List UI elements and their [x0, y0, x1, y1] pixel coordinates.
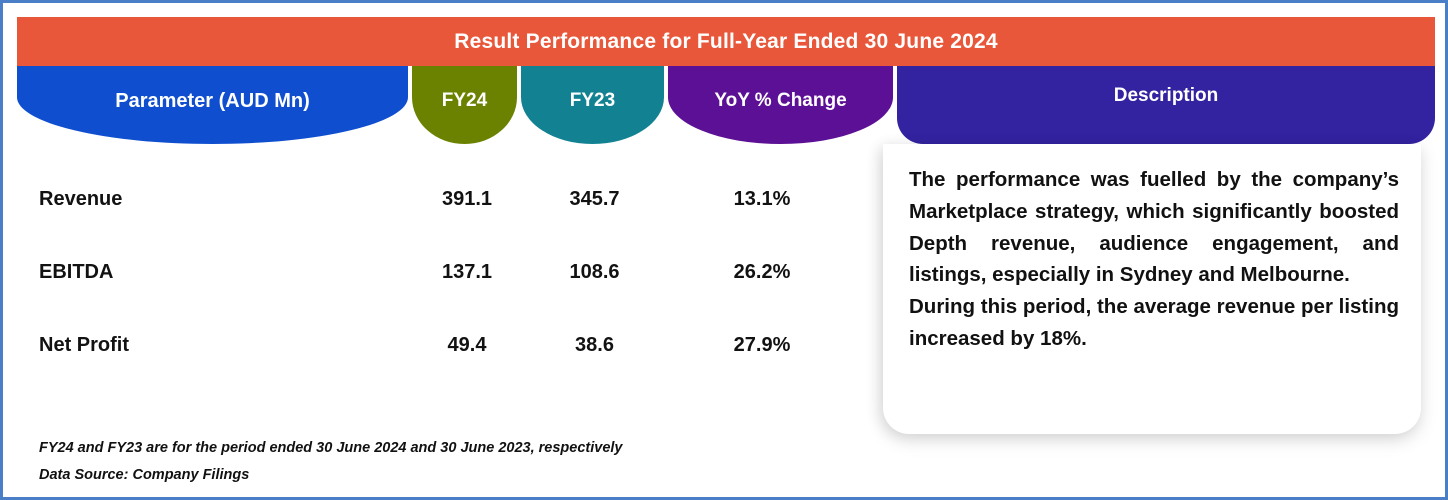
- cell-yoy: 13.1%: [667, 188, 857, 211]
- table-row: Revenue 391.1 345.7 13.1%: [17, 163, 857, 236]
- cell-parameter: Net Profit: [17, 334, 412, 357]
- column-header-fy24: FY24: [412, 66, 517, 144]
- footnote-data-source: Data Source: Company Filings: [39, 462, 622, 489]
- cell-parameter: EBITDA: [17, 261, 412, 284]
- page-title: Result Performance for Full-Year Ended 3…: [17, 17, 1435, 66]
- table-row: Net Profit 49.4 38.6 27.9%: [17, 309, 857, 382]
- description-card: The performance was fuelled by the compa…: [883, 144, 1421, 434]
- description-text: The performance was fuelled by the compa…: [909, 164, 1399, 355]
- cell-parameter: Revenue: [17, 188, 412, 211]
- cell-fy24: 49.4: [412, 334, 522, 357]
- table-header-row: Parameter (AUD Mn) FY24 FY23 YoY % Chang…: [17, 66, 1435, 144]
- cell-fy23: 345.7: [522, 188, 667, 211]
- infographic-frame: Result Performance for Full-Year Ended 3…: [0, 0, 1448, 500]
- column-header-yoy-change: YoY % Change: [668, 66, 893, 144]
- column-header-parameter: Parameter (AUD Mn): [17, 66, 408, 144]
- cell-fy23: 38.6: [522, 334, 667, 357]
- footnote-period: FY24 and FY23 are for the period ended 3…: [39, 435, 622, 462]
- column-header-fy23: FY23: [521, 66, 664, 144]
- table-row: EBITDA 137.1 108.6 26.2%: [17, 236, 857, 309]
- cell-fy24: 137.1: [412, 261, 522, 284]
- table-body: Revenue 391.1 345.7 13.1% EBITDA 137.1 1…: [17, 163, 857, 382]
- column-header-description: Description: [897, 66, 1435, 144]
- cell-yoy: 26.2%: [667, 261, 857, 284]
- cell-fy23: 108.6: [522, 261, 667, 284]
- cell-fy24: 391.1: [412, 188, 522, 211]
- footnotes: FY24 and FY23 are for the period ended 3…: [39, 435, 622, 489]
- cell-yoy: 27.9%: [667, 334, 857, 357]
